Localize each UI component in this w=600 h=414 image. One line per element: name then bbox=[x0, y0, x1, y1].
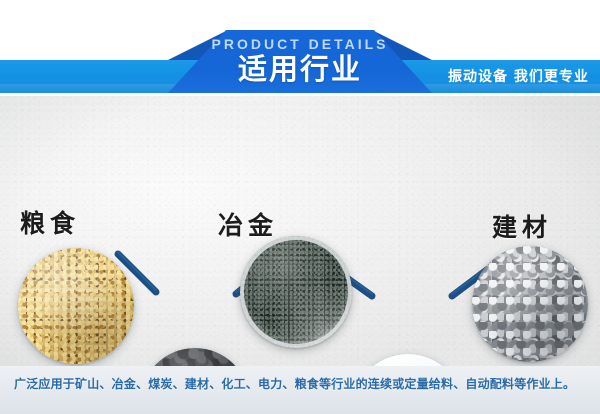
label-building-material: 建材 bbox=[492, 208, 552, 244]
metallurgy-dish-rim bbox=[240, 236, 352, 348]
banner-english-title: PRODUCT DETAILS bbox=[168, 36, 432, 52]
node-metallurgy-circle[interactable] bbox=[240, 236, 352, 348]
node-building-material-circle[interactable] bbox=[472, 246, 588, 362]
label-grain: 粮食 bbox=[20, 204, 80, 240]
banner-chinese-title: 适用行业 bbox=[168, 52, 432, 86]
label-metallurgy: 冶金 bbox=[218, 206, 278, 242]
footer-description: 广泛应用于矿山、冶金、煤炭、建材、化工、电力、粮食等行业的连续或定量给料、自动配… bbox=[14, 375, 575, 392]
node-grain-circle[interactable] bbox=[18, 248, 134, 364]
product-details-banner-page: PRODUCT DETAILS 适用行业 振动设备 我们更专业 bbox=[0, 0, 600, 414]
header-banner: PRODUCT DETAILS 适用行业 振动设备 我们更专业 bbox=[0, 0, 600, 96]
banner-slogan: 振动设备 我们更专业 bbox=[448, 66, 589, 86]
aggregate-sheen bbox=[472, 246, 588, 362]
grain-sheen bbox=[18, 248, 134, 364]
